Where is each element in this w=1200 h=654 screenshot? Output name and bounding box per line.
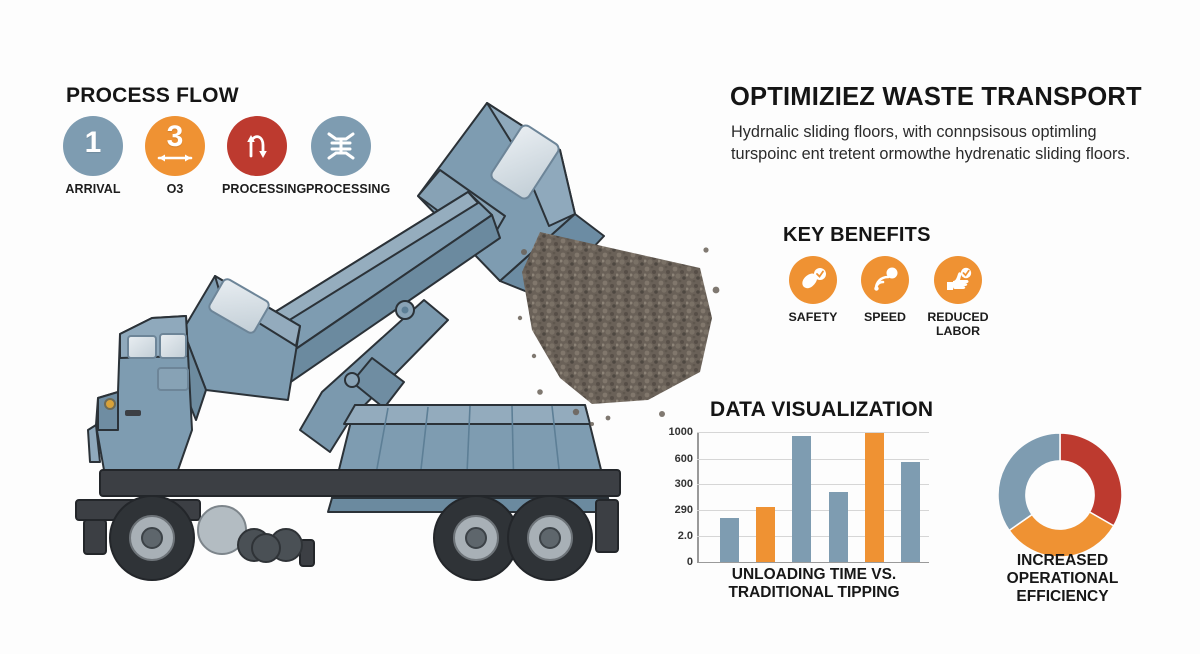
key-benefits-title: KEY BENEFITS <box>783 224 931 247</box>
y-axis-tick-label: 290 <box>675 504 693 516</box>
process-step-number: 3 <box>167 122 184 152</box>
wheels <box>110 496 592 580</box>
curved-arrows-glyph <box>240 129 274 163</box>
signal-waves-icon <box>861 256 909 304</box>
process-step-label: O3 <box>140 182 210 196</box>
bar <box>792 436 811 562</box>
process-step-processing-1[interactable]: PROCESSING <box>222 116 292 196</box>
rack-frame-icon <box>311 116 371 176</box>
truck-cab <box>88 316 192 470</box>
data-visualization-title: DATA VISUALIZATION <box>710 398 933 422</box>
shield-blob-icon <box>789 256 837 304</box>
gridline <box>697 432 929 433</box>
signal-waves-glyph <box>870 265 900 295</box>
benefit-label: REDUCED LABOR <box>920 310 996 339</box>
bar-chart-caption: UNLOADING TIME VS. TRADITIONAL TIPPING <box>700 566 928 602</box>
y-axis-tick-label: 1000 <box>669 426 693 438</box>
arrow-span-icon: 3 <box>145 116 205 176</box>
process-step-label: ARRIVAL <box>58 182 128 196</box>
benefit-speed[interactable]: SPEED <box>847 256 923 324</box>
process-step-arrival[interactable]: 1 ARRIVAL <box>58 116 128 196</box>
rack-frame-glyph <box>324 130 358 162</box>
y-axis-tick-label: 0 <box>687 556 693 568</box>
benefit-safety[interactable]: SAFETY <box>775 256 851 324</box>
shield-blob-glyph <box>798 265 828 295</box>
bar <box>901 462 920 562</box>
process-step-label: PROCESSING <box>222 182 292 196</box>
gridline <box>697 484 929 485</box>
page-title: OPTIMIZIEZ WASTE TRANSPORT <box>730 83 1142 112</box>
hand-thumb-glyph <box>943 265 973 295</box>
bar <box>720 518 739 562</box>
process-step-processing-2[interactable]: PROCESSING <box>306 116 376 196</box>
donut-chart <box>990 425 1130 565</box>
double-arrow-icon <box>155 152 195 164</box>
bar-chart: 10006003002902.00 <box>697 432 929 562</box>
sliding-floor-trailer <box>328 405 612 512</box>
bar <box>756 507 775 562</box>
benefit-reduced-labor[interactable]: REDUCED LABOR <box>920 256 996 339</box>
y-axis-tick-label: 600 <box>675 453 693 465</box>
process-flow-steps: 1 ARRIVAL 3 O3 <box>58 116 388 206</box>
benefit-label: SAFETY <box>775 310 851 324</box>
benefit-label: SPEED <box>847 310 923 324</box>
curved-arrows-icon <box>227 116 287 176</box>
tipper-upper-box <box>172 276 300 420</box>
tipped-container <box>418 103 604 299</box>
process-flow-title: PROCESS FLOW <box>66 84 239 108</box>
bar <box>829 492 848 562</box>
truck-chassis <box>76 470 620 566</box>
number-badge-icon: 1 <box>63 116 123 176</box>
donut-svg <box>990 425 1130 565</box>
infographic-canvas: PROCESS FLOW 1 ARRIVAL 3 O3 <box>0 0 1200 654</box>
y-axis-tick-label: 2.0 <box>678 530 693 542</box>
donut-chart-caption: INCREASED OPERATIONAL EFFICIENCY <box>975 552 1150 606</box>
key-benefits-items: SAFETY SPEED <box>778 256 1008 346</box>
y-axis-line <box>697 432 699 562</box>
process-step-o3[interactable]: 3 O3 <box>140 116 210 196</box>
gridline <box>697 562 929 563</box>
gravel-debris-pile <box>500 220 740 426</box>
donut-segment <box>998 433 1060 530</box>
process-step-label: PROCESSING <box>306 182 376 196</box>
gridline <box>697 510 929 511</box>
hero-subcopy: Hydrnalic sliding floors, with connpsiso… <box>731 122 1135 165</box>
y-axis-tick-label: 300 <box>675 478 693 490</box>
bar <box>865 433 884 562</box>
hand-thumb-icon <box>934 256 982 304</box>
hydraulic-boom-arm <box>238 192 500 452</box>
process-step-number: 1 <box>85 128 102 158</box>
gridline <box>697 459 929 460</box>
